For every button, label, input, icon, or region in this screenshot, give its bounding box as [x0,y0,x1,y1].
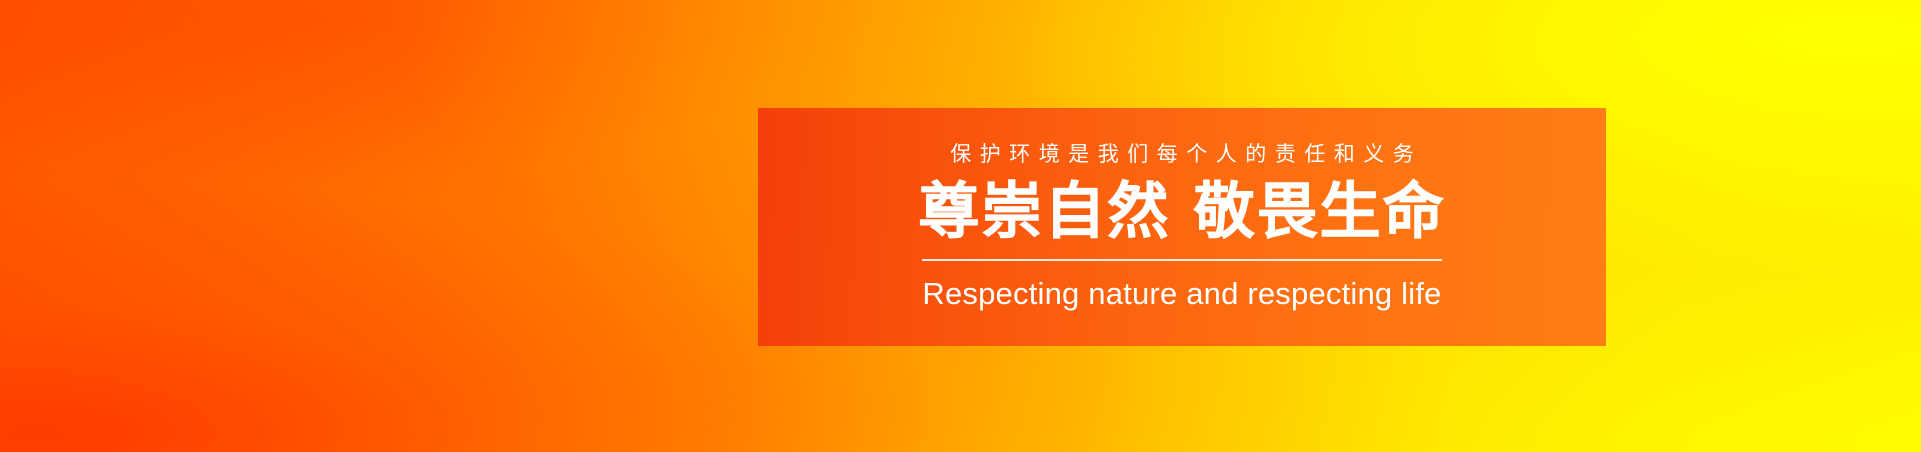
slogan-english-strapline: Respecting nature and respecting life [922,277,1441,311]
slogan-plaque-content: 保护环境是我们每个人的责任和义务 尊崇自然 敬畏生命 Respecting na… [758,108,1606,311]
environment-slogan-banner: 保护环境是我们每个人的责任和义务 尊崇自然 敬畏生命 Respecting na… [0,0,1921,452]
slogan-divider [922,259,1442,261]
slogan-headline-text: 尊崇自然 敬畏生命 [918,179,1445,245]
slogan-plaque: 保护环境是我们每个人的责任和义务 尊崇自然 敬畏生命 Respecting na… [758,108,1606,346]
slogan-eyebrow-text: 保护环境是我们每个人的责任和义务 [942,144,1423,165]
